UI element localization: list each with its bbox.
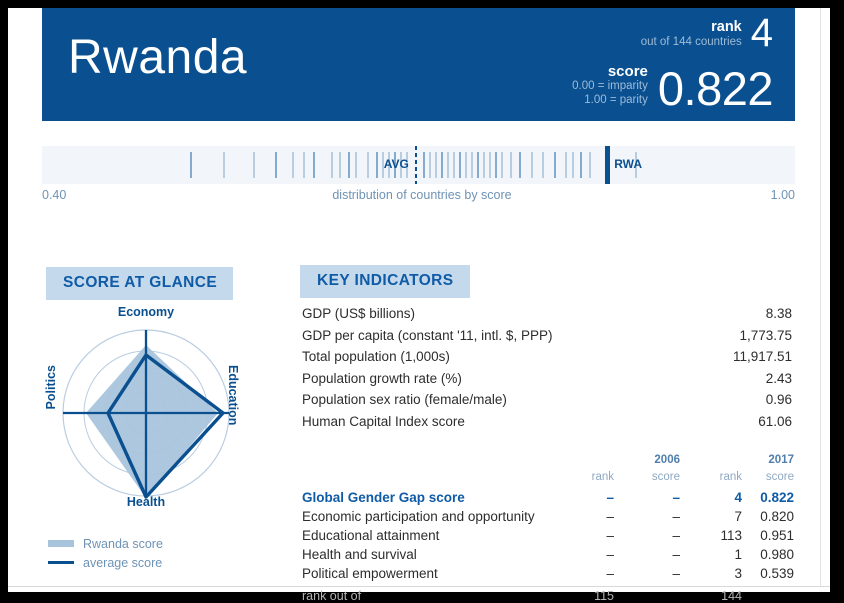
key-indicator-name: Human Capital Index score [302,411,465,433]
section-title-key-indicators: KEY INDICATORS [300,265,470,298]
key-indicator-row: GDP (US$ billions)8.38 [302,303,792,325]
distribution-average-label: AVG [384,157,409,171]
distribution-tick [190,152,192,178]
table-cell-rank-2006: – [548,486,614,505]
table-row: Political empowerment––30.539 [302,562,794,581]
table-year-2006: 2006 [614,450,680,468]
table-cell-score-2006: – [614,505,680,524]
distribution-tick [367,152,369,178]
distribution-tick [489,152,491,178]
distribution-tick [313,152,315,178]
table-cell-rank-2017: 3 [680,562,742,581]
page-frame-right [830,0,844,603]
radar-axis-label-education: Education [226,365,240,425]
key-indicator-row: Human Capital Index score61.06 [302,411,792,433]
distribution-tick [471,152,473,178]
table-header-score-2017: score [742,468,794,486]
distribution-tick [435,152,437,178]
table-spacer [302,468,548,486]
distribution-tick [303,152,305,178]
radar-axis-label-politics: Politics [44,365,58,409]
table-cell-score-2006: – [614,486,680,505]
table-row: Global Gender Gap score––40.822 [302,486,794,505]
legend-label-rwanda-score: Rwanda score [83,537,163,551]
key-indicator-row: Population growth rate (%)2.43 [302,368,792,390]
table-cell-name: Economic participation and opportunity [302,505,548,524]
table-footer-rank-2006: 115 [548,581,614,603]
distribution-tick [331,152,333,178]
distribution-tick [542,152,544,178]
distribution-country-marker [605,146,610,184]
key-indicator-name: Population sex ratio (female/male) [302,389,507,411]
key-indicator-row: Total population (1,000s)11,917.51 [302,346,792,368]
distribution-tick [453,152,455,178]
distribution-tick [510,152,512,178]
score-value: 0.822 [658,65,773,113]
radar-area-rwanda-score [86,345,218,498]
key-indicators-list: GDP (US$ billions)8.38GDP per capita (co… [302,303,792,432]
legend-item-average-score: average score [48,553,163,572]
distribution-tick [292,152,294,178]
distribution-tick [565,152,567,178]
key-indicator-name: GDP per capita (constant '11, intl. $, P… [302,325,552,347]
table-footer-score-2006 [614,581,680,603]
table-row: Economic participation and opportunity––… [302,505,794,524]
key-indicator-row: Population sex ratio (female/male)0.96 [302,389,792,411]
score-sublabel-imparity: 0.00 = imparity [572,80,648,94]
table-row: 20062017 [302,450,794,468]
table-cell-score-2017: 0.980 [742,543,794,562]
distribution-tick [580,152,582,178]
table-cell-rank-2017: 4 [680,486,742,505]
gender-gap-scores-table: 20062017rankscorerankscoreGlobal Gender … [302,450,794,603]
distribution-tick [465,152,467,178]
table-spacer [302,450,548,468]
key-indicator-value: 8.38 [766,303,792,325]
table-cell-name: Educational attainment [302,524,548,543]
distribution-country-label: RWA [614,157,642,171]
distribution-tick [376,152,378,178]
distribution-tick [531,152,533,178]
table-header-rank-2017: rank [680,468,742,486]
page-title: Rwanda [68,30,247,86]
distribution-tick [355,152,357,178]
distribution-tick [441,152,443,178]
radar-legend: Rwanda score average score [48,534,163,572]
table-cell-score-2017: 0.951 [742,524,794,543]
table-footer-label: rank out of [302,581,548,603]
distribution-strip: AVGRWA [42,146,795,184]
table-cell-score-2006: – [614,562,680,581]
key-indicator-value: 0.96 [766,389,792,411]
table-footer-rank-2017: 144 [680,581,742,603]
table-spacer [548,450,614,468]
table-cell-name: Political empowerment [302,562,548,581]
table-cell-rank-2017: 113 [680,524,742,543]
rank-block: rank out of 144 countries 4 [641,13,773,53]
table-cell-rank-2006: – [548,524,614,543]
key-indicator-value: 11,917.51 [733,346,792,368]
distribution-tick [253,152,255,178]
page-frame-top [0,0,844,8]
distribution-tick [477,152,479,178]
table-row: rank out of115144 [302,581,794,603]
table-cell-rank-2006: – [548,505,614,524]
key-indicator-name: Total population (1,000s) [302,346,450,368]
legend-swatch-area-icon [48,540,74,547]
radar-axis-label-health: Health [46,495,246,509]
distribution-tick [223,152,225,178]
score-label: score [572,63,648,80]
distribution-tick [339,152,341,178]
distribution-tick [501,152,503,178]
legend-swatch-line-icon [48,561,74,564]
radar-svg [46,305,246,515]
distribution-max-label: 1.00 [0,188,795,202]
section-title-score-at-glance: SCORE AT GLANCE [46,267,233,300]
table-cell-score-2006: – [614,543,680,562]
key-indicator-row: GDP per capita (constant '11, intl. $, P… [302,325,792,347]
key-indicator-name: Population growth rate (%) [302,368,462,390]
score-sublabel-parity: 1.00 = parity [572,94,648,108]
page-inner-rule-right [820,8,821,586]
table-cell-rank-2006: – [548,562,614,581]
table-cell-score-2017: 0.539 [742,562,794,581]
score-block: score 0.00 = imparity 1.00 = parity 0.82… [572,63,773,113]
table-header-rank-2006: rank [548,468,614,486]
distribution-tick [572,152,574,178]
table-footer-score-2017 [742,581,794,603]
rank-value: 4 [751,13,773,53]
distribution-average-marker [415,146,417,184]
distribution-tick [483,152,485,178]
table-cell-score-2017: 0.822 [742,486,794,505]
header-banner: Rwanda rank out of 144 countries 4 score… [42,8,795,121]
rank-sublabel: out of 144 countries [641,35,742,49]
table-cell-rank-2006: – [548,543,614,562]
table-cell-score-2006: – [614,524,680,543]
distribution-tick [519,152,521,178]
key-indicator-value: 1,773.75 [739,325,792,347]
distribution-tick [554,152,556,178]
page-frame-left [0,0,8,603]
distribution-tick [459,152,461,178]
distribution-tick [495,152,497,178]
table-cell-rank-2017: 1 [680,543,742,562]
radar-axis-label-economy: Economy [46,305,246,319]
distribution-tick [275,152,277,178]
key-indicator-value: 2.43 [766,368,792,390]
rank-label: rank [641,19,742,35]
distribution-tick [589,152,591,178]
distribution-tick [429,152,431,178]
key-indicator-name: GDP (US$ billions) [302,303,415,325]
table-header-score-2006: score [614,468,680,486]
country-profile-page: Rwanda rank out of 144 countries 4 score… [0,0,844,603]
radar-chart: Economy Education Health Politics [46,305,246,515]
table-cell-rank-2017: 7 [680,505,742,524]
table-row: rankscorerankscore [302,468,794,486]
table-year-2017: 2017 [742,450,794,468]
table-cell-score-2017: 0.820 [742,505,794,524]
table-spacer [680,450,742,468]
distribution-tick [447,152,449,178]
distribution-tick [423,152,425,178]
table-cell-name: Global Gender Gap score [302,486,548,505]
distribution-track: AVGRWA [42,146,795,184]
table-row: Educational attainment––1130.951 [302,524,794,543]
key-indicator-value: 61.06 [758,411,792,433]
table-row: Health and survival––10.980 [302,543,794,562]
legend-label-average-score: average score [83,556,162,570]
table-cell-name: Health and survival [302,543,548,562]
distribution-tick [348,152,350,178]
legend-item-rwanda-score: Rwanda score [48,534,163,553]
